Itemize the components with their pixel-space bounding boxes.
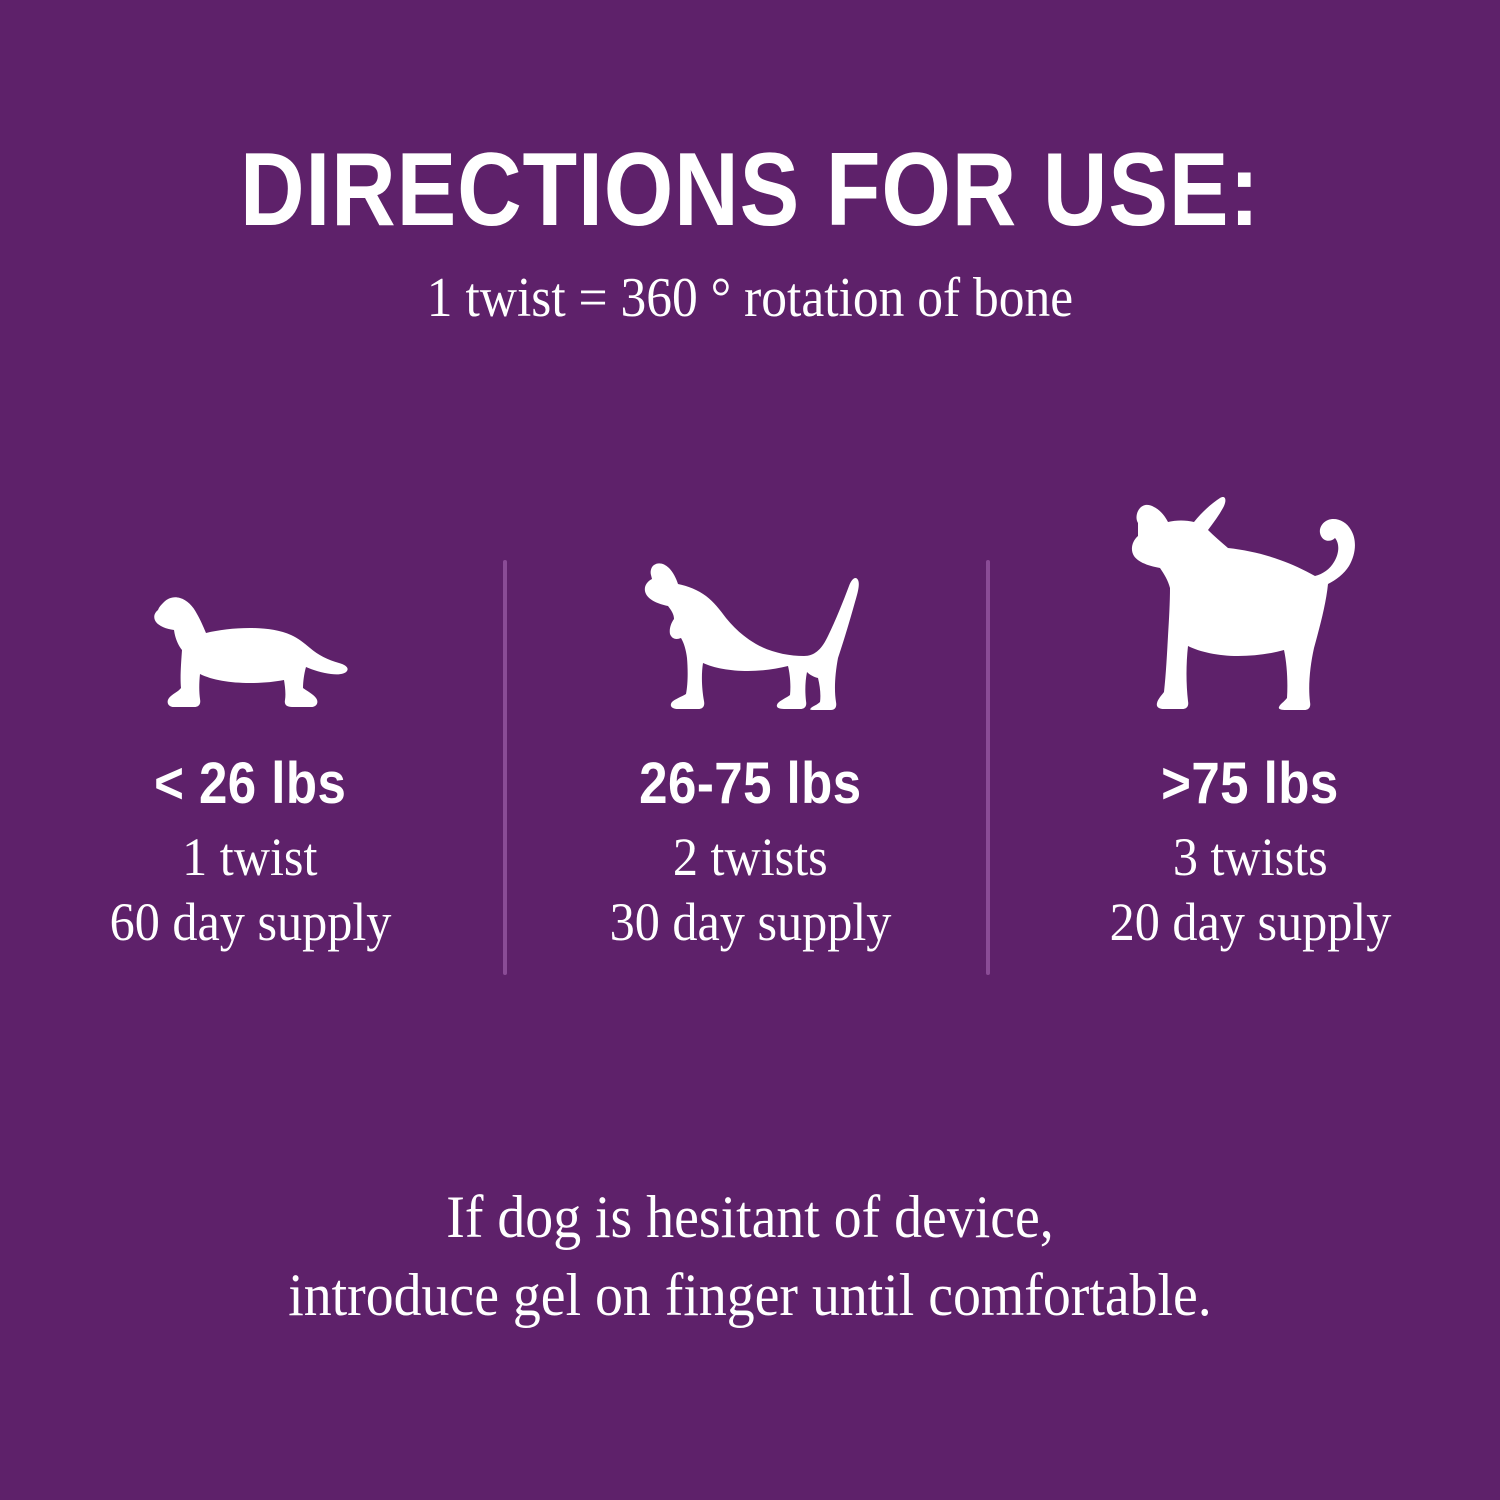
medium-dog-beagle-icon: [638, 470, 862, 710]
weight-range-label: >75 lbs: [1161, 754, 1339, 814]
weight-range-label: < 26 lbs: [154, 754, 346, 814]
dosage-columns: < 26 lbs 1 twist 60 day supply 26-75 lbs…: [0, 470, 1500, 990]
dosage-column-small: < 26 lbs 1 twist 60 day supply: [0, 470, 500, 954]
directions-for-use-panel: DIRECTIONS FOR USE: 1 twist = 360 ° rota…: [0, 0, 1500, 1500]
dosage-column-large: >75 lbs 3 twists 20 day supply: [1000, 470, 1500, 954]
supply-label: 60 day supply: [109, 890, 391, 954]
page-subtitle: 1 twist = 360 ° rotation of bone: [60, 268, 1440, 328]
weight-range-label: 26-75 lbs: [639, 754, 861, 814]
footer-line-1: If dog is hesitant of device,: [53, 1178, 1448, 1256]
header: DIRECTIONS FOR USE: 1 twist = 360 ° rota…: [0, 138, 1500, 328]
page-title: DIRECTIONS FOR USE:: [105, 138, 1395, 242]
large-dog-terrier-icon: [1128, 470, 1372, 710]
footer-note: If dog is hesitant of device, introduce …: [0, 1178, 1500, 1334]
small-dog-dachshund-icon: [150, 470, 350, 710]
supply-label: 30 day supply: [609, 890, 891, 954]
supply-label: 20 day supply: [1109, 890, 1391, 954]
dosage-column-medium: 26-75 lbs 2 twists 30 day supply: [500, 470, 1000, 954]
twists-label: 1 twist: [182, 826, 317, 888]
footer-line-2: introduce gel on finger until comfortabl…: [53, 1256, 1448, 1334]
twists-label: 2 twists: [673, 826, 828, 888]
twists-label: 3 twists: [1173, 826, 1328, 888]
